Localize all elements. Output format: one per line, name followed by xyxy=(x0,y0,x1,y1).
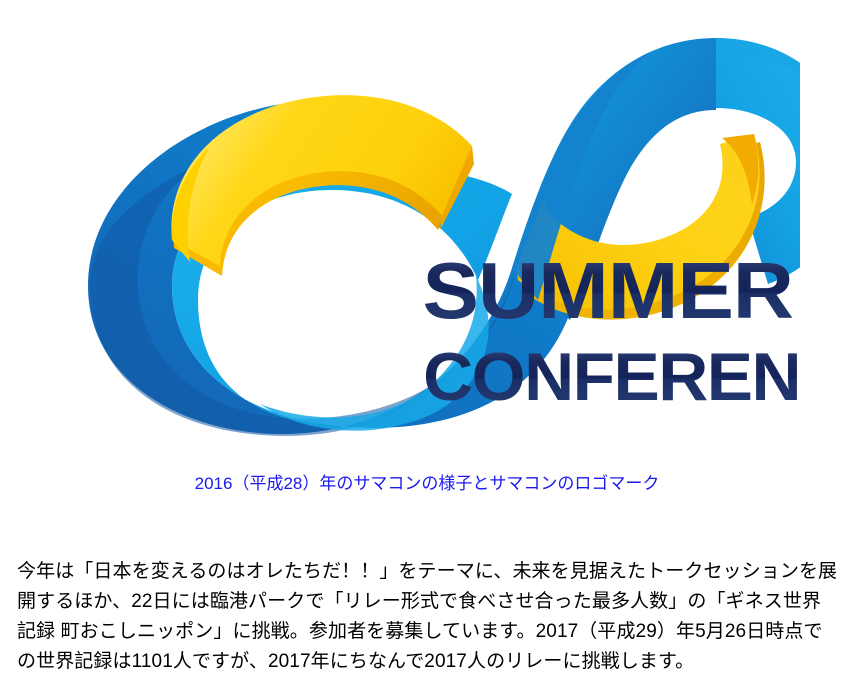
article-paragraph: 今年は「日本を変えるのはオレたちだ！！」をテーマに、未来を見据えたトークセッショ… xyxy=(17,557,839,677)
figure-caption: 2016（平成28）年のサマコンの様子とサマコンのロゴマーク xyxy=(0,472,854,496)
logo-figure: SUMMER CONFERENCE xyxy=(0,0,854,455)
wordmark-conference: CONFERENCE xyxy=(423,339,800,415)
article-page: SUMMER CONFERENCE 2016（平成28）年のサマコンの様子とサマ… xyxy=(0,0,854,700)
wordmark-summer: SUMMER xyxy=(423,246,793,335)
logo-artwork-icon: SUMMER CONFERENCE xyxy=(60,18,800,438)
summer-conference-logo: SUMMER CONFERENCE xyxy=(60,18,800,438)
